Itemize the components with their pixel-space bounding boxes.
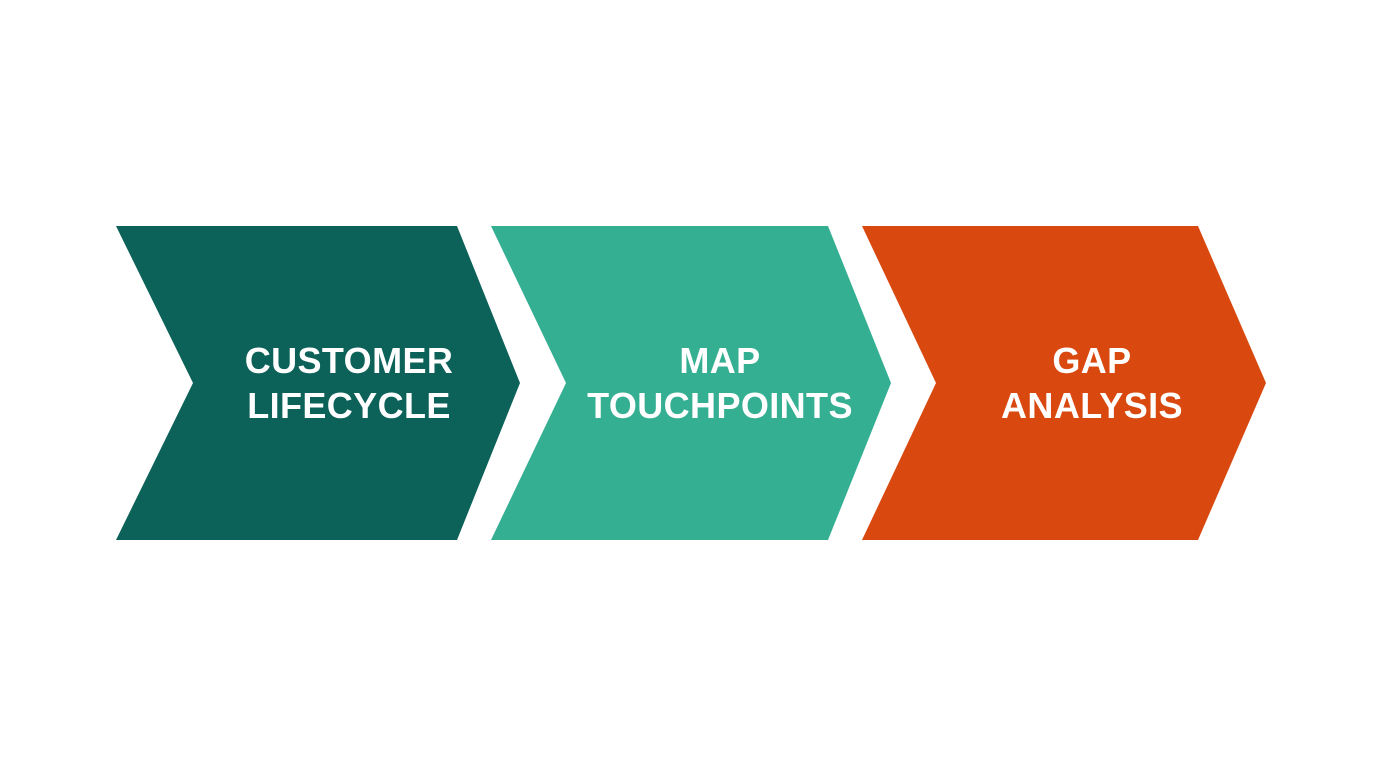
chevron-step-1-label: CUSTOMER LIFECYCLE [183, 338, 454, 428]
chevron-step-2[interactable]: MAP TOUCHPOINTS [491, 226, 891, 540]
chevron-step-1[interactable]: CUSTOMER LIFECYCLE [116, 226, 520, 540]
diagram-canvas: CUSTOMER LIFECYCLE MAP TOUCHPOINTS GAP A… [0, 0, 1381, 766]
chevron-step-3[interactable]: GAP ANALYSIS [862, 226, 1266, 540]
chevron-step-3-label: GAP ANALYSIS [945, 338, 1183, 428]
chevron-process-flow: CUSTOMER LIFECYCLE MAP TOUCHPOINTS GAP A… [0, 0, 1381, 766]
chevron-step-2-label: MAP TOUCHPOINTS [529, 338, 853, 428]
